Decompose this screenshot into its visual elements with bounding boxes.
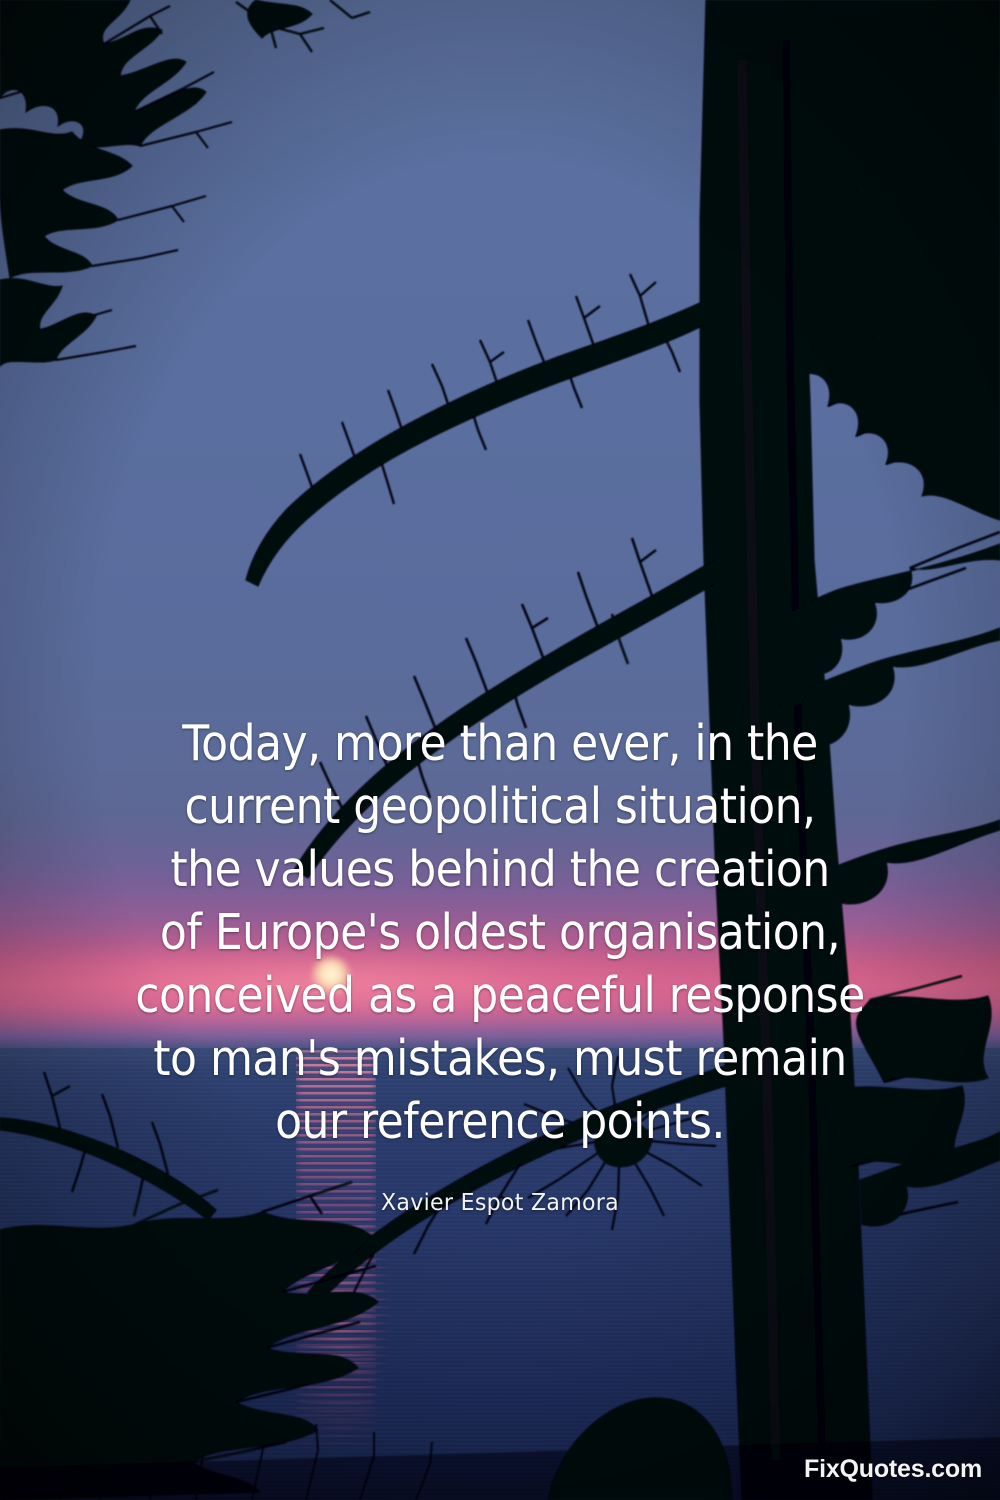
quote-line: conceived as a peaceful response (86, 964, 914, 1027)
quote-line: Today, more than ever, in the (86, 712, 914, 775)
quote-line: to man's mistakes, must remain (86, 1027, 914, 1090)
foliage-top-left (0, 0, 232, 366)
author-attribution: Xavier Espot Zamora (20, 1190, 980, 1216)
quote-line: our reference points. (86, 1090, 914, 1153)
site-watermark[interactable]: FixQuotes.com (804, 1455, 982, 1484)
quote-image-canvas: Today, more than ever, in the current ge… (0, 0, 1000, 1500)
quote-line: of Europe's oldest organisation, (86, 901, 914, 964)
quote-line: the values behind the creation (86, 838, 914, 901)
quote-text-block: Today, more than ever, in the current ge… (0, 712, 1000, 1153)
foliage-right-upper (800, 0, 1000, 520)
quote-line: current geopolitical situation, (86, 775, 914, 838)
main-horizontal-branch (246, 274, 710, 586)
foliage-lower-left (0, 1182, 432, 1500)
